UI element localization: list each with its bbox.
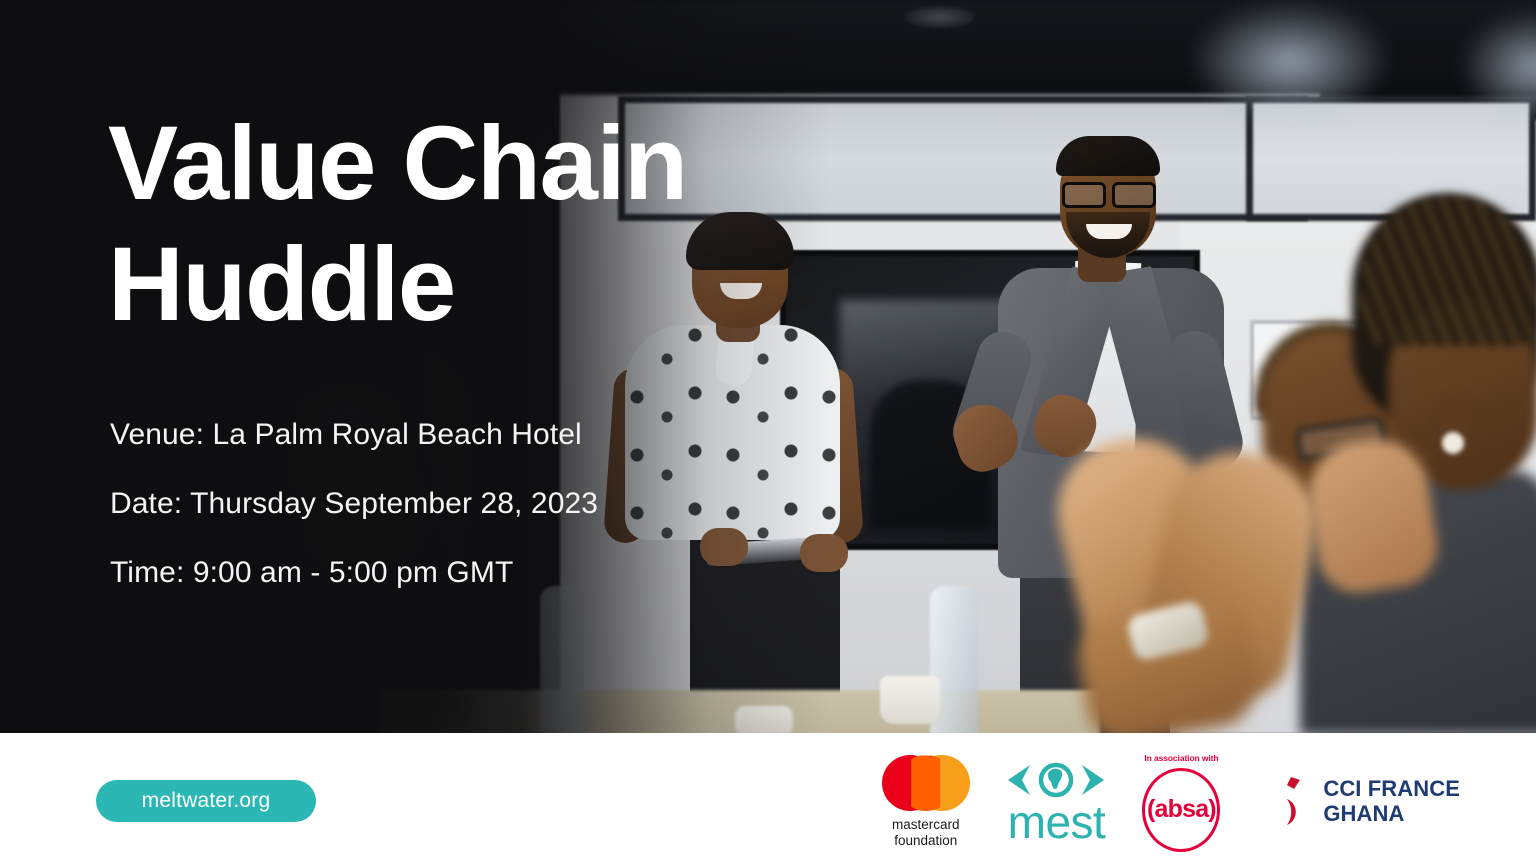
mastercard-wordmark-line-1: mastercard: [892, 817, 960, 833]
mest-logo: mest: [997, 760, 1115, 845]
event-title-line-2: Huddle: [108, 225, 868, 346]
mastercard-wordmark-line-2: foundation: [892, 833, 960, 849]
absa-circle-icon: (absa): [1142, 768, 1220, 852]
cci-mark-icon: [1247, 769, 1313, 835]
absa-association-text: In association with: [1144, 753, 1218, 763]
mastercard-wordmark: mastercard foundation: [892, 817, 960, 848]
cci-wordmark-line-1: CCI FRANCE: [1323, 777, 1460, 802]
event-banner: Value Chain Huddle Venue: La Palm Royal …: [0, 0, 1536, 864]
partner-logos: mastercard foundation mest In associatio…: [880, 748, 1460, 856]
event-venue: Venue: La Palm Royal Beach Hotel: [110, 420, 750, 450]
website-pill-button[interactable]: meltwater.org: [96, 780, 316, 822]
event-time: Time: 9:00 am - 5:00 pm GMT: [110, 558, 750, 588]
mastercard-circles-icon: [882, 755, 970, 811]
event-title-line-1: Value Chain: [108, 105, 687, 222]
cci-wordmark-line-2: GHANA: [1323, 802, 1460, 827]
event-date: Date: Thursday September 28, 2023: [110, 489, 750, 519]
mest-eye-icon: [998, 760, 1114, 800]
cci-france-ghana-logo: CCI FRANCE GHANA: [1247, 769, 1460, 835]
mastercard-foundation-logo: mastercard foundation: [880, 755, 971, 848]
mest-wordmark: mest: [1008, 801, 1106, 845]
absa-wordmark: (absa): [1147, 797, 1216, 822]
event-title: Value Chain Huddle: [108, 104, 868, 346]
event-details: Venue: La Palm Royal Beach Hotel Date: T…: [110, 420, 750, 588]
cci-wordmark: CCI FRANCE GHANA: [1323, 777, 1460, 826]
absa-logo: In association with (absa): [1142, 753, 1222, 852]
